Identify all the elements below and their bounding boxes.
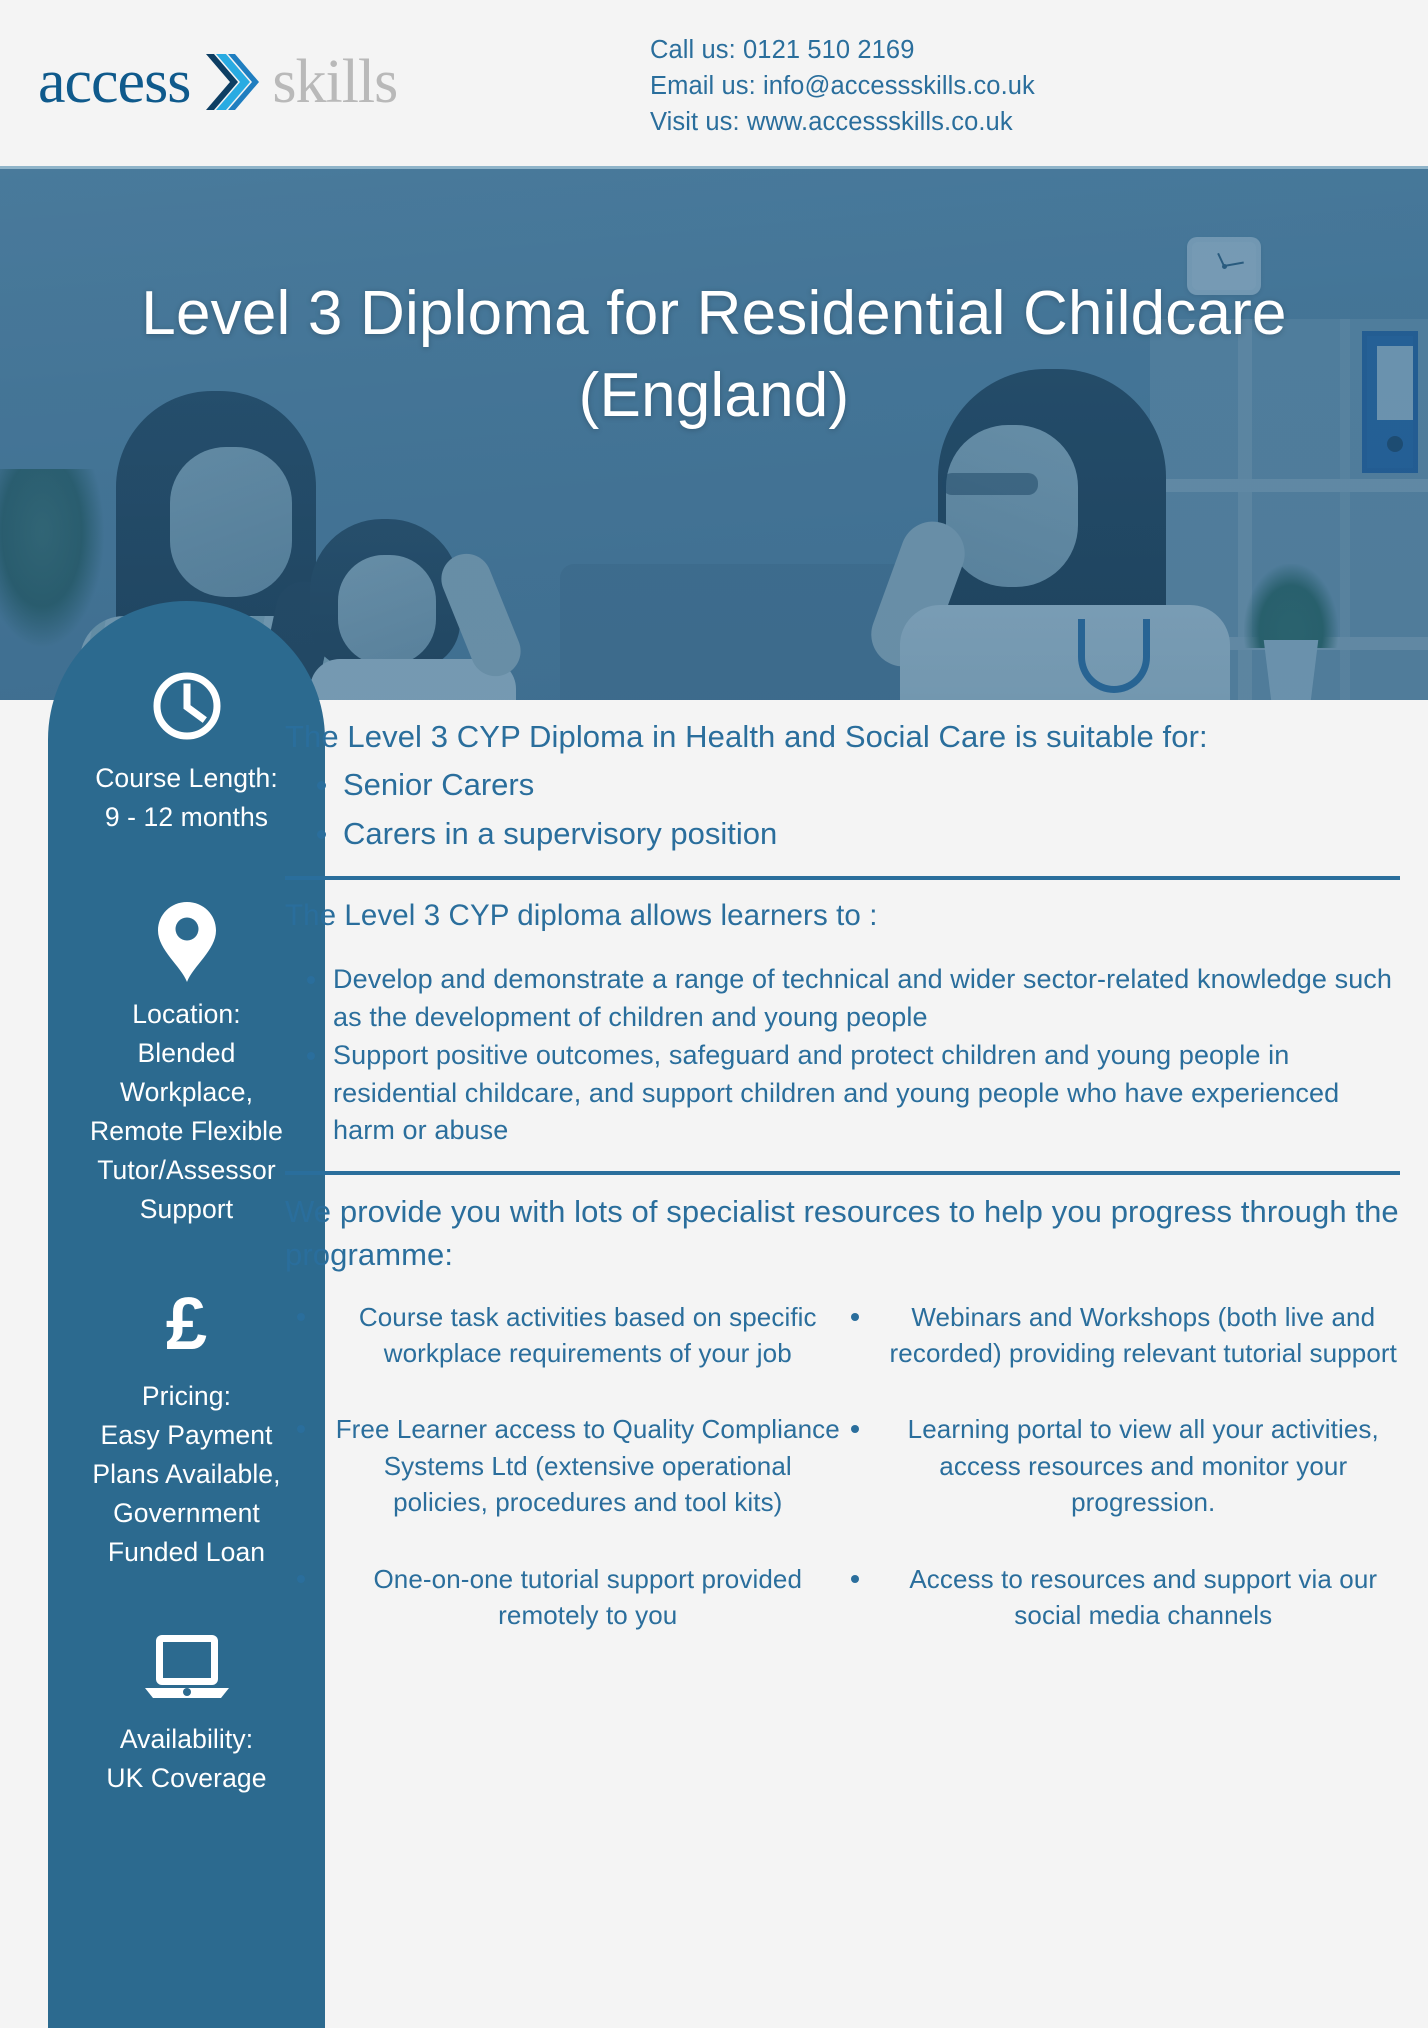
sidebar-location-line-5: Support xyxy=(56,1190,317,1229)
sidebar-location-label: Location: xyxy=(56,995,317,1034)
list-item: Support positive outcomes, safeguard and… xyxy=(285,1037,1400,1150)
sidebar-pricing-line-2: Plans Available, xyxy=(56,1455,317,1494)
main-content: The Level 3 CYP Diploma in Health and So… xyxy=(285,716,1400,1673)
section-divider-1 xyxy=(285,876,1400,880)
sidebar-block-location: Location: Blended Workplace, Remote Flex… xyxy=(56,899,317,1229)
section-divider-2 xyxy=(285,1171,1400,1175)
resources-columns: Course task activities based on specific… xyxy=(285,1299,1400,1674)
resources-heading: We provide you with lots of specialist r… xyxy=(285,1191,1400,1277)
contact-email[interactable]: Email us: info@accessskills.co.uk xyxy=(650,68,1070,104)
sidebar-pricing-line-1: Easy Payment xyxy=(56,1416,317,1455)
page-header: access skills Call us: 0121 510 2169 Ema… xyxy=(0,0,1428,168)
list-item: Access to resources and support via our … xyxy=(843,1561,1401,1634)
list-item: Webinars and Workshops (both live and re… xyxy=(843,1299,1401,1372)
pound-sterling-icon: £ xyxy=(56,1281,317,1367)
logo-wordmark-skills: skills xyxy=(272,51,397,113)
chevron-right-icon xyxy=(200,49,266,115)
sidebar-course-length-value: 9 - 12 months xyxy=(56,798,317,837)
list-item: Develop and demonstrate a range of techn… xyxy=(285,961,1400,1037)
sidebar-block-pricing: £ Pricing: Easy Payment Plans Available,… xyxy=(56,1281,317,1572)
list-item: One-on-one tutorial support provided rem… xyxy=(285,1561,843,1634)
course-flyer-page: access skills Call us: 0121 510 2169 Ema… xyxy=(0,0,1428,2028)
sidebar-pricing-line-4: Funded Loan xyxy=(56,1533,317,1572)
sidebar-location-line-1: Blended xyxy=(56,1034,317,1073)
learning-outcomes-list: Develop and demonstrate a range of techn… xyxy=(285,961,1400,1150)
logo-wordmark-access: access xyxy=(38,51,190,113)
sidebar-course-length-label: Course Length: xyxy=(56,759,317,798)
sidebar-pricing-label: Pricing: xyxy=(56,1377,317,1416)
sidebar-location-line-4: Tutor/Assessor xyxy=(56,1151,317,1190)
laptop-icon xyxy=(56,1624,317,1710)
sidebar-pricing-line-3: Government xyxy=(56,1494,317,1533)
resources-column-right: Webinars and Workshops (both live and re… xyxy=(843,1299,1401,1674)
sidebar-block-availability: Availability: UK Coverage xyxy=(56,1624,317,1798)
sidebar-block-course-length: Course Length: 9 - 12 months xyxy=(56,663,317,837)
sidebar-availability-label: Availability: xyxy=(56,1720,317,1759)
list-item: Senior Carers xyxy=(285,764,1400,806)
clock-icon xyxy=(56,663,317,749)
header-contact-block: Call us: 0121 510 2169 Email us: info@ac… xyxy=(650,32,1070,140)
section-suitable-for: The Level 3 CYP Diploma in Health and So… xyxy=(285,716,1400,855)
suitable-for-list: Senior Carers Carers in a supervisory po… xyxy=(285,764,1400,855)
page-title: Level 3 Diploma for Residential Childcar… xyxy=(0,273,1428,437)
sidebar-location-line-2: Workplace, xyxy=(56,1073,317,1112)
sidebar-location-line-3: Remote Flexible xyxy=(56,1112,317,1151)
list-item: Learning portal to view all your activit… xyxy=(843,1411,1401,1520)
suitable-for-lead: The Level 3 CYP Diploma in Health and So… xyxy=(285,716,1400,758)
brand-logo[interactable]: access skills xyxy=(38,46,397,118)
section-resources: We provide you with lots of specialist r… xyxy=(285,1191,1400,1673)
list-item: Free Learner access to Quality Complianc… xyxy=(285,1411,843,1520)
contact-website[interactable]: Visit us: www.accessskills.co.uk xyxy=(650,104,1070,140)
contact-phone[interactable]: Call us: 0121 510 2169 xyxy=(650,32,1070,68)
section-learning-outcomes: The Level 3 CYP diploma allows learners … xyxy=(285,896,1400,1150)
sidebar-availability-value: UK Coverage xyxy=(56,1759,317,1798)
resources-column-left: Course task activities based on specific… xyxy=(285,1299,843,1674)
list-item: Course task activities based on specific… xyxy=(285,1299,843,1372)
course-facts-sidebar: Course Length: 9 - 12 months Location: B… xyxy=(48,601,325,2028)
map-pin-icon xyxy=(56,899,317,985)
list-item: Carers in a supervisory position xyxy=(285,813,1400,855)
learning-outcomes-heading: The Level 3 CYP diploma allows learners … xyxy=(285,896,1400,937)
